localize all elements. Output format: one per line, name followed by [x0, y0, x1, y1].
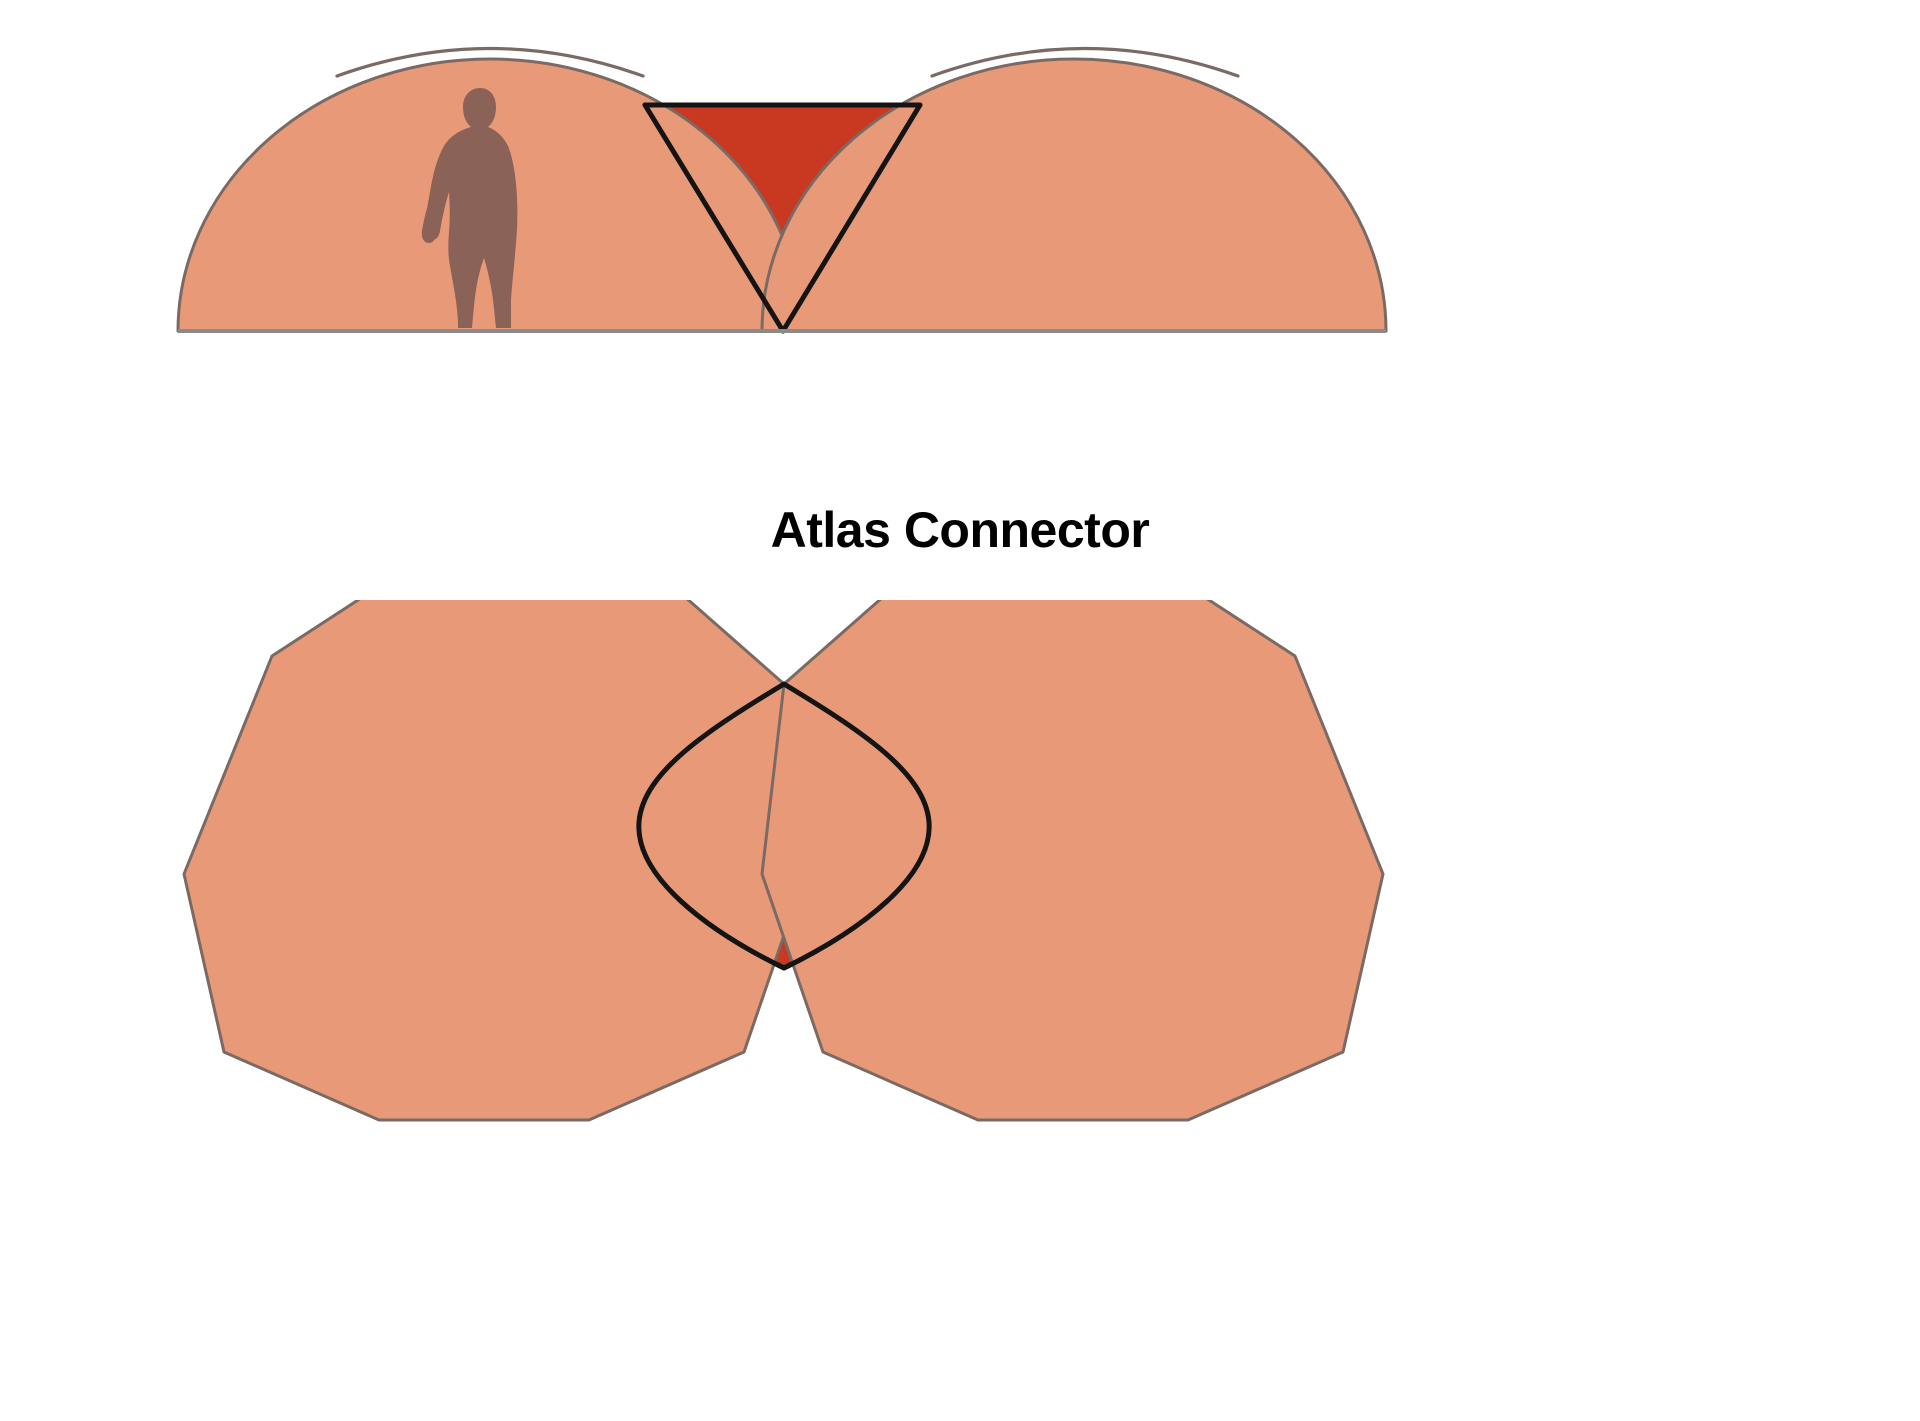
- title-block: Atlas Connector: [0, 490, 1920, 570]
- left-plan-polygon: [184, 600, 805, 1120]
- plan-view-svg: [0, 600, 1920, 1421]
- plan-view: [0, 600, 1920, 1421]
- page-title: Atlas Connector: [771, 501, 1150, 559]
- right-dome: [762, 59, 1386, 331]
- atlas-connector-diagram: Atlas Connector: [0, 0, 1920, 1421]
- elevation-view: [0, 0, 1920, 470]
- elevation-view-svg: [0, 0, 1920, 470]
- right-plan-polygon: [762, 600, 1383, 1120]
